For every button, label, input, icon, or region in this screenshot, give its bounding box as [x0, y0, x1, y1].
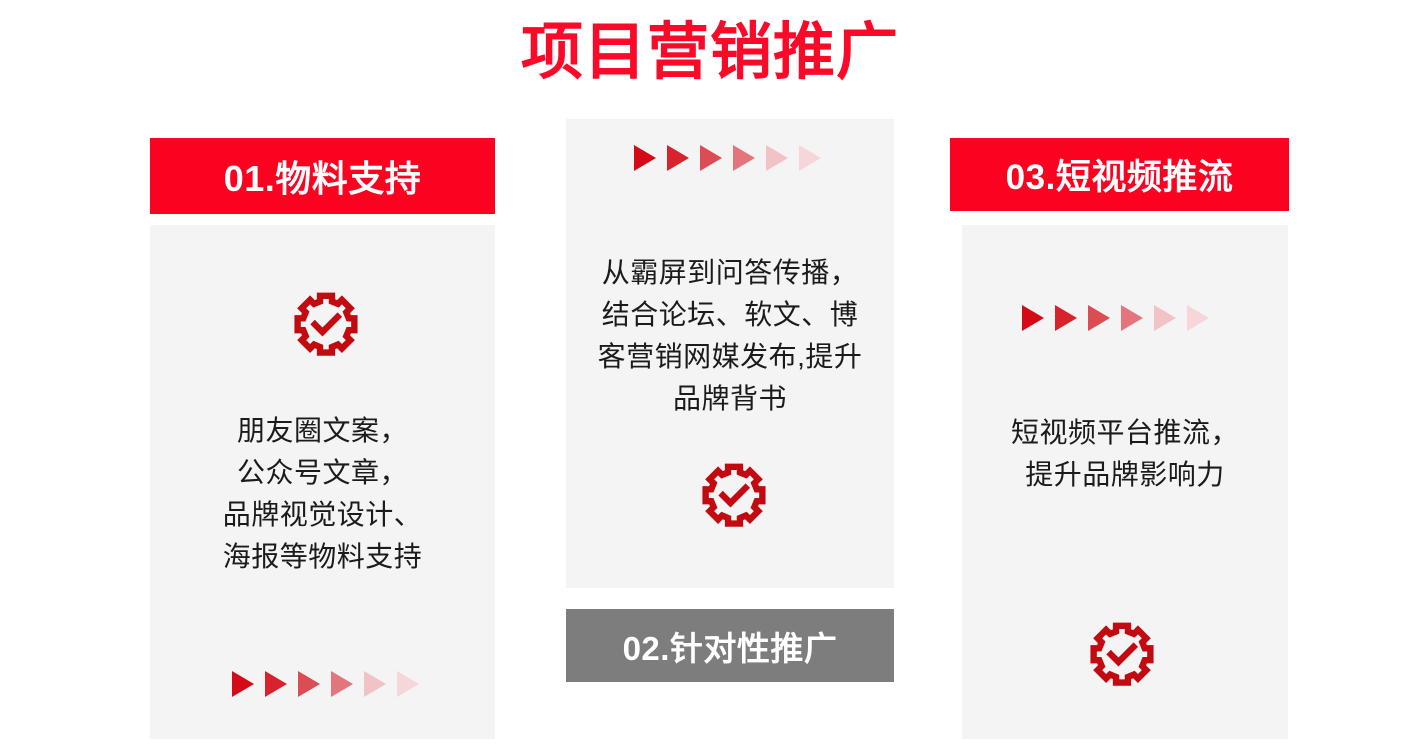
card-body-text-material-support: 朋友圈文案， 公众号文章， 品牌视觉设计、 海报等物料支持 [160, 410, 485, 578]
arrow-strip-material-support [232, 671, 419, 697]
card-header-targeted-promotion[interactable]: 02.针对性推广 [566, 609, 894, 682]
arrow-icon [766, 145, 788, 171]
arrow-icon [1154, 305, 1176, 331]
arrow-icon [1022, 305, 1044, 331]
arrow-icon [799, 145, 821, 171]
page-title: 项目营销推广 [0, 14, 1420, 92]
arrow-strip-targeted-promotion [634, 145, 821, 171]
arrow-icon [397, 671, 419, 697]
gear-check-icon [292, 290, 360, 358]
gear-check-icon [1088, 620, 1156, 688]
arrow-icon [634, 145, 656, 171]
arrow-icon [1187, 305, 1209, 331]
card-body-text-targeted-promotion: 从霸屏到问答传播， 结合论坛、软文、博 客营销网媒发布,提升 品牌背书 [572, 252, 888, 420]
card-header-material-support[interactable]: 01.物料支持 [150, 138, 495, 214]
gear-check-icon [700, 461, 768, 529]
arrow-icon [700, 145, 722, 171]
arrow-icon [364, 671, 386, 697]
arrow-icon [265, 671, 287, 697]
card-header-short-video-push[interactable]: 03.短视频推流 [950, 138, 1289, 211]
card-body-text-short-video-push: 短视频平台推流， 提升品牌影响力 [968, 412, 1282, 496]
arrow-icon [1088, 305, 1110, 331]
arrow-icon [733, 145, 755, 171]
arrow-strip-short-video-push [1022, 305, 1209, 331]
arrow-icon [331, 671, 353, 697]
arrow-icon [667, 145, 689, 171]
arrow-icon [232, 671, 254, 697]
arrow-icon [1121, 305, 1143, 331]
arrow-icon [1055, 305, 1077, 331]
arrow-icon [298, 671, 320, 697]
